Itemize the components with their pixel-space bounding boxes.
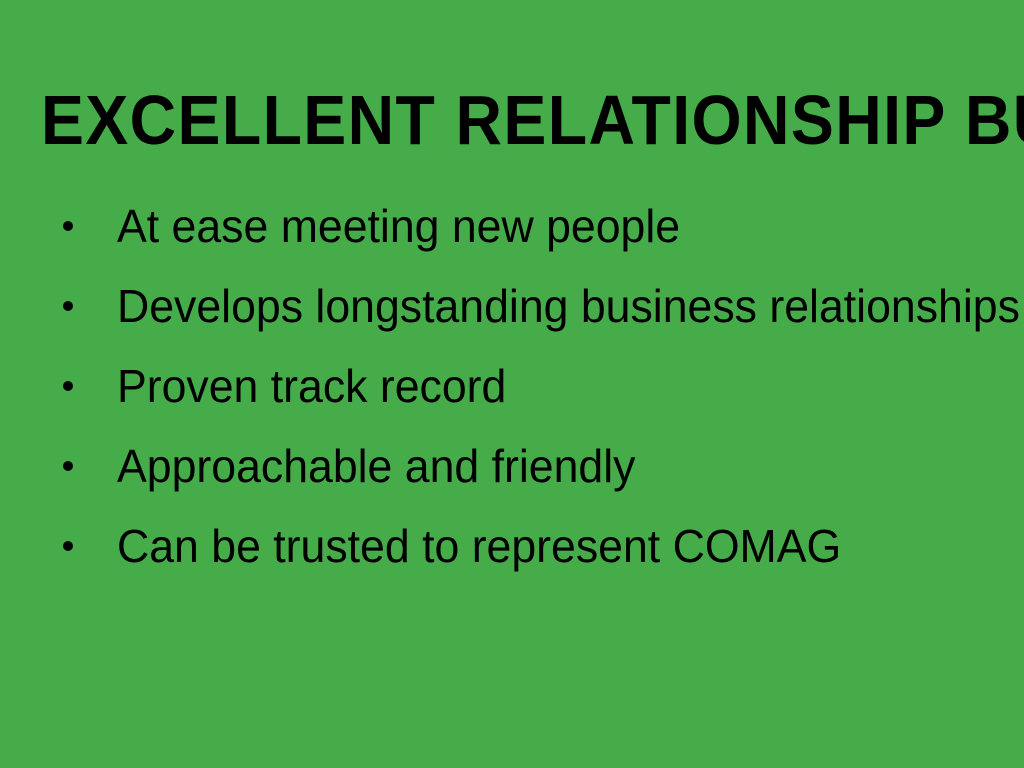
list-item: Proven track record	[0, 346, 1024, 426]
bullet-text: Approachable and friendly	[117, 443, 635, 489]
bullet-dot-icon	[63, 381, 73, 391]
list-item: Approachable and friendly	[0, 426, 1024, 506]
bullet-dot-icon	[63, 221, 73, 231]
bullet-dot-icon	[63, 461, 73, 471]
bullet-text: Can be trusted to represent COMAG	[117, 523, 841, 569]
list-item: At ease meeting new people	[0, 186, 1024, 266]
bullet-dot-icon	[63, 301, 73, 311]
bullet-text: At ease meeting new people	[117, 203, 680, 249]
list-item: Can be trusted to represent COMAG	[0, 506, 1024, 586]
bullet-text: Develops longstanding business relations…	[117, 283, 1020, 329]
list-item: Develops longstanding business relations…	[0, 266, 1024, 346]
bullet-text: Proven track record	[117, 363, 506, 409]
bullet-dot-icon	[63, 541, 73, 551]
presentation-slide: EXCELLENT RELATIONSHIP BUILDER At ease m…	[0, 0, 1024, 768]
bullet-list: At ease meeting new people Develops long…	[0, 186, 1024, 586]
slide-title: EXCELLENT RELATIONSHIP BUILDER	[41, 85, 983, 155]
